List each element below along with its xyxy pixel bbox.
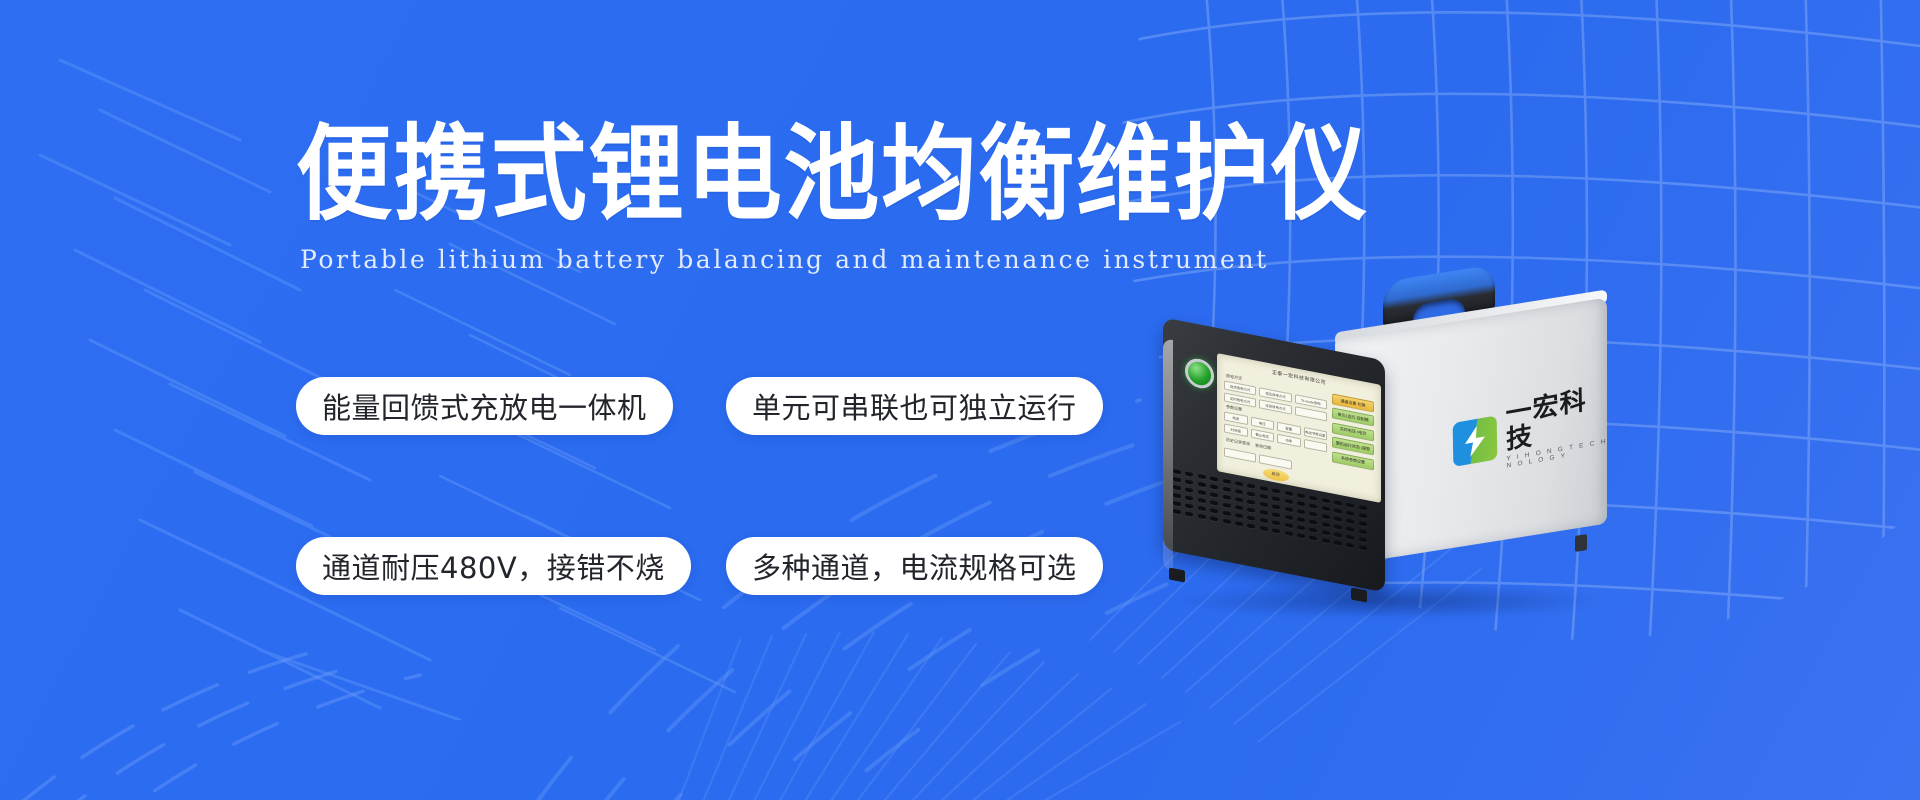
screen-form-area: 放电方式 恒流放电方式 恒压放电方式 Ts mode放电 定时放电方式 定容放电… xyxy=(1224,370,1327,490)
device-foot xyxy=(1575,534,1587,552)
feature-pill-1[interactable]: 能量回馈式充放电一体机 xyxy=(296,377,673,435)
feature-pill-3[interactable]: 通道耐压480V，接错不烧 xyxy=(296,537,691,595)
feature-pill-4[interactable]: 多种通道，电流规格可选 xyxy=(726,537,1103,595)
product-banner: 便携式锂电池均衡维护仪 Portable lithium battery bal… xyxy=(0,0,1920,800)
device-shadow xyxy=(1173,583,1603,619)
device-foot xyxy=(1169,567,1185,582)
screen-action-buttons: 通道设置 切换 单元1运行 控制键 实时电压 /电流 整机运行状态 /报警 系统… xyxy=(1332,391,1374,499)
screen-field-label: 查询日期 xyxy=(1255,443,1271,452)
feature-pill-2[interactable]: 单元可串联也可独立运行 xyxy=(726,377,1103,435)
banner-content: 便携式锂电池均衡维护仪 Portable lithium battery bal… xyxy=(0,0,1920,800)
screen-start-button[interactable]: 启动 xyxy=(1263,467,1289,483)
logo-mark-icon xyxy=(1453,415,1498,467)
product-device-image: 一宏科技 Y I H O N G T E C H N O L O G Y 正泰一… xyxy=(1155,283,1625,633)
page-title: 便携式锂电池均衡维护仪 xyxy=(296,122,1369,226)
bezel-edge-highlight xyxy=(1163,338,1173,572)
page-subtitle: Portable lithium battery balancing and m… xyxy=(300,245,1269,275)
screen-group-label-3: 历史记录查询 xyxy=(1226,437,1250,448)
lightning-bolt-icon xyxy=(1462,423,1489,459)
